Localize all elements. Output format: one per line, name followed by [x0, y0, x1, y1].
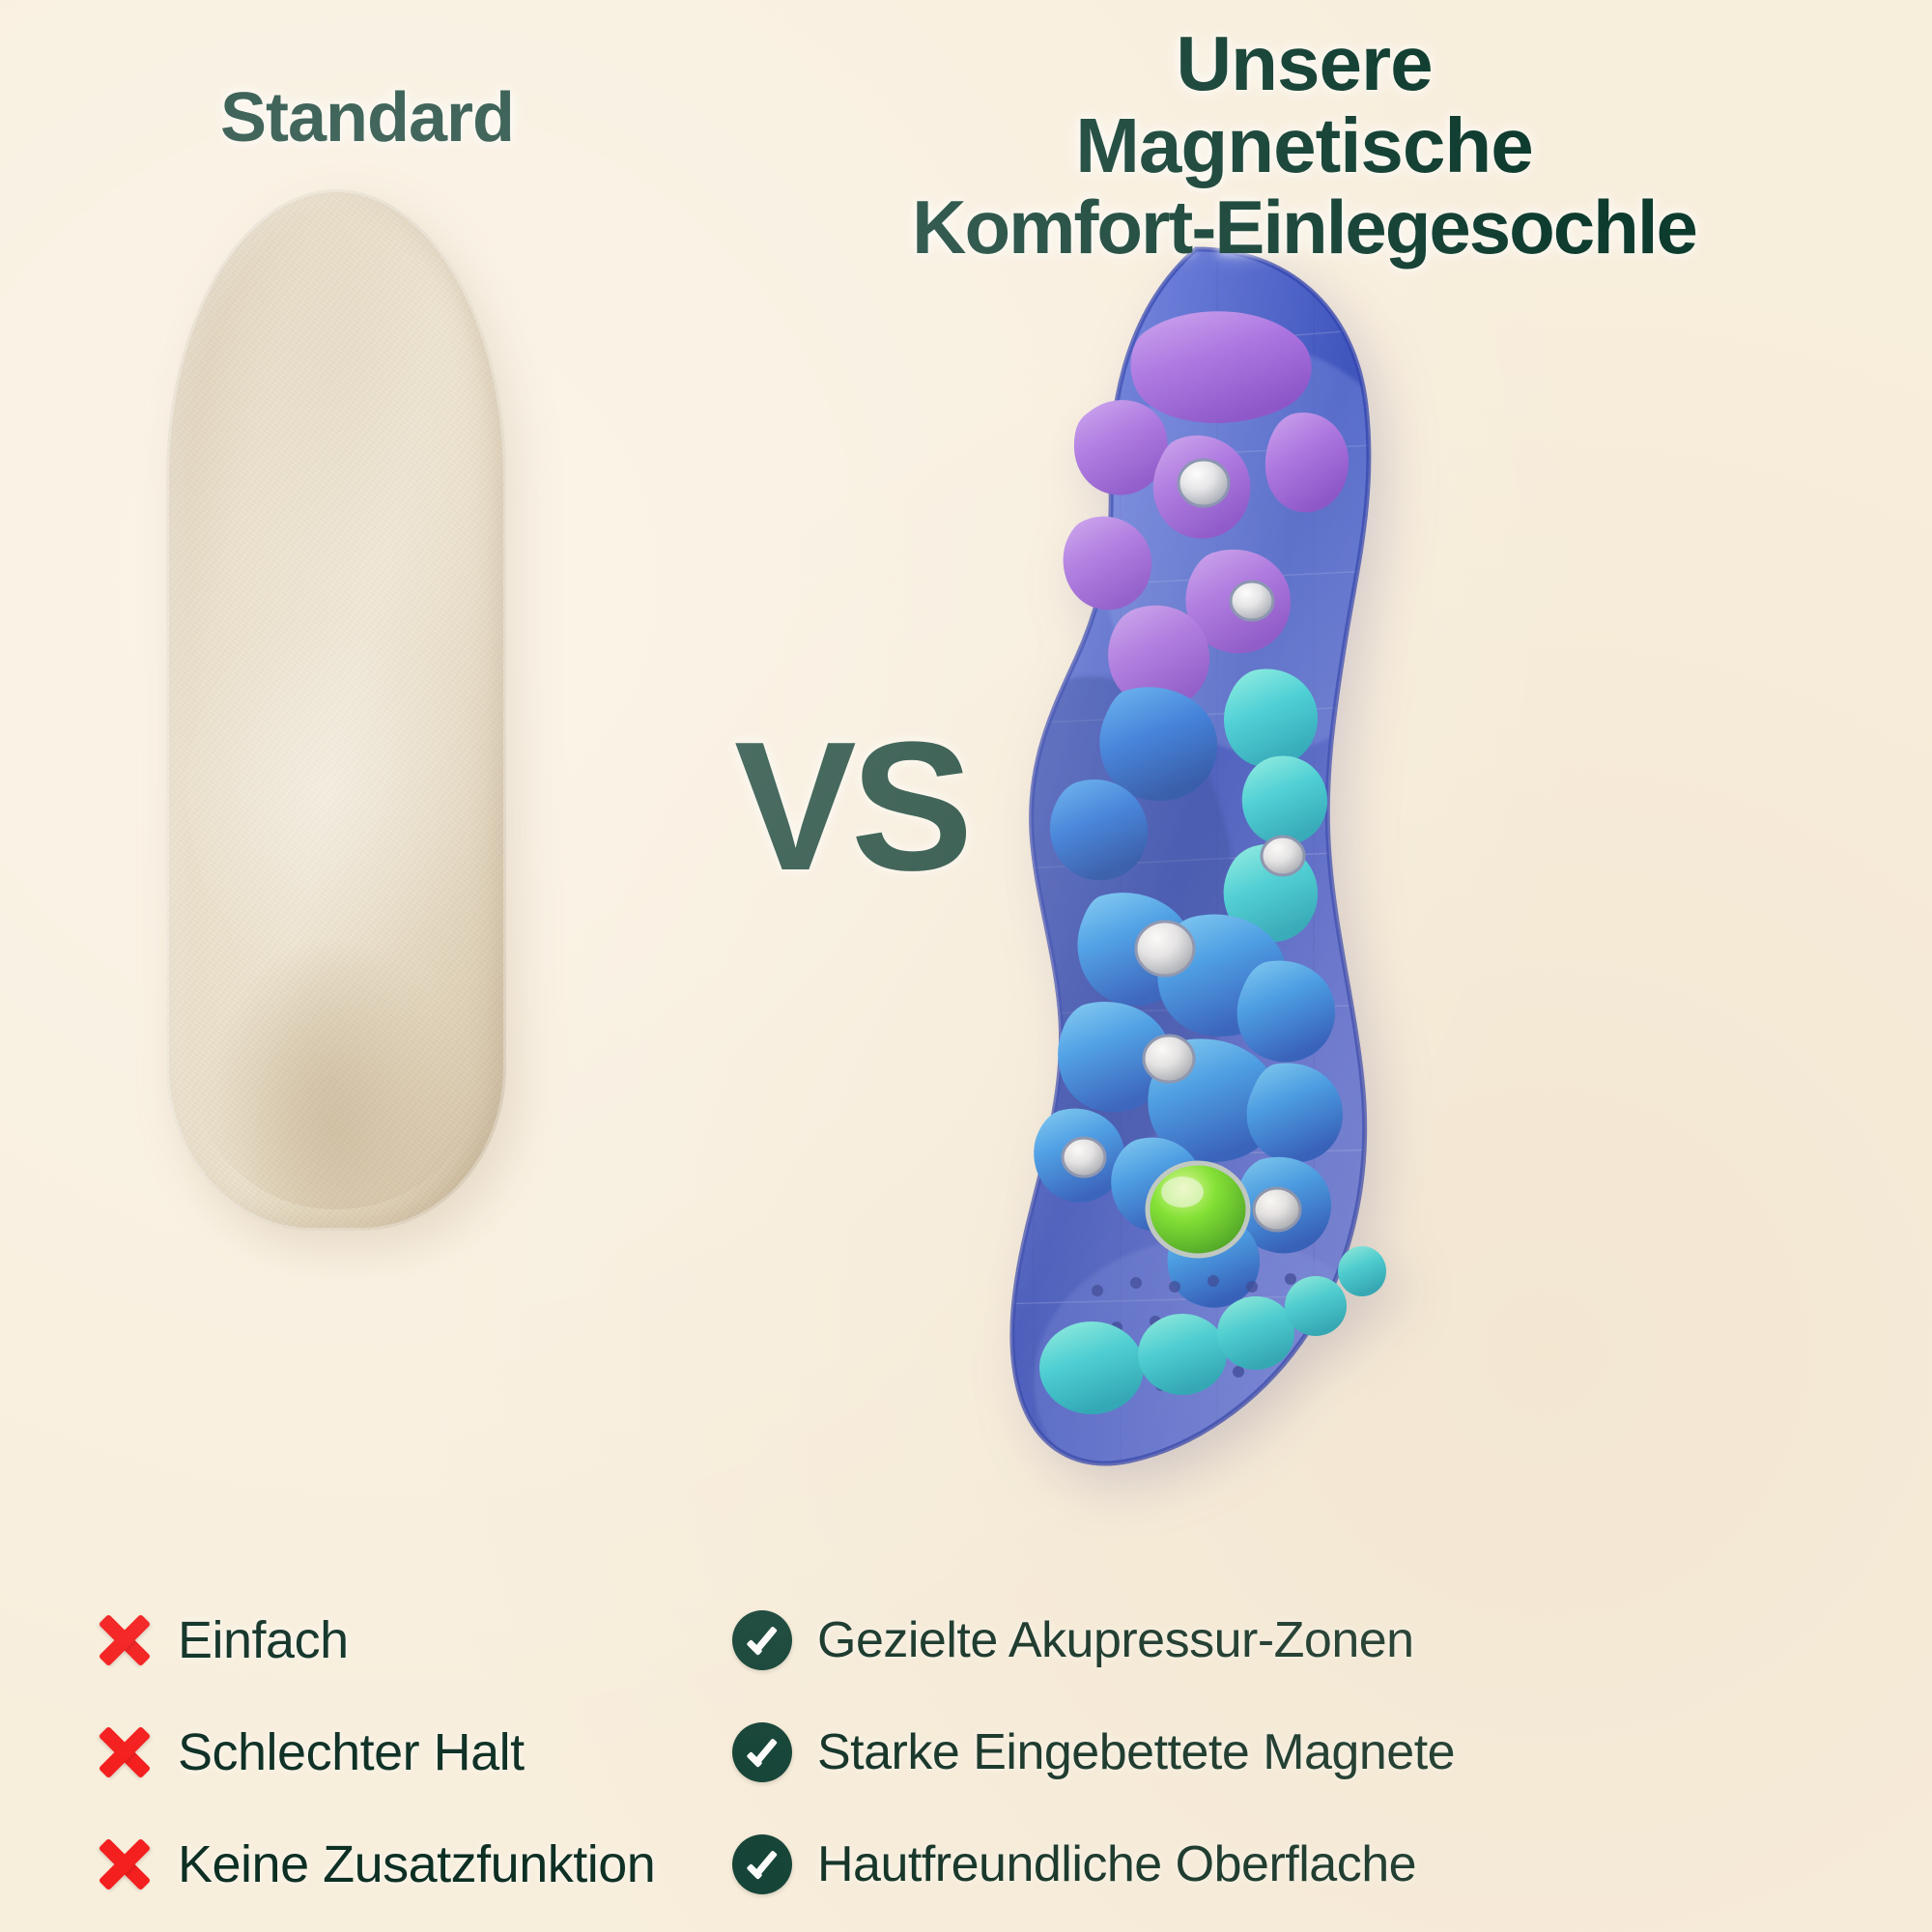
standard-insole-image — [166, 189, 506, 1231]
x-mark-icon — [97, 1724, 153, 1780]
title-line-2: Magnetische — [676, 105, 1932, 187]
page-title-standard: Standard — [0, 83, 734, 153]
standard-insole-heel-cup — [193, 939, 479, 1209]
feature-label: Einfach — [178, 1610, 349, 1670]
check-circle-icon — [732, 1610, 792, 1670]
check-circle-icon — [732, 1834, 792, 1894]
x-mark-icon — [97, 1612, 153, 1668]
list-item: Keine Zusatzfunktion — [97, 1808, 734, 1920]
list-item: Einfach — [97, 1584, 734, 1696]
green-stone — [1148, 1163, 1248, 1256]
list-item: Starke Eingebettete Magnete — [732, 1696, 1930, 1808]
list-item: Hautfreundliche Oberflache — [732, 1808, 1930, 1920]
feature-label: Starke Eingebettete Magnete — [817, 1723, 1455, 1781]
magnetic-insole-image — [976, 241, 1410, 1507]
title-line-1: Unsere — [676, 23, 1932, 105]
feature-label: Gezielte Akupressur-Zonen — [817, 1611, 1414, 1669]
feature-label: Keine Zusatzfunktion — [178, 1834, 655, 1894]
magnetic-feature-list: Gezielte Akupressur-Zonen Starke Eingebe… — [732, 1584, 1930, 1920]
list-item: Schlechter Halt — [97, 1696, 734, 1808]
versus-label: VS — [734, 715, 967, 898]
check-circle-icon — [732, 1722, 792, 1782]
list-item: Gezielte Akupressur-Zonen — [732, 1584, 1930, 1696]
page-title-magnetic: Unsere Magnetische Komfort-Einlegesochle — [676, 23, 1932, 267]
feature-label: Schlechter Halt — [178, 1722, 525, 1782]
x-mark-icon — [97, 1836, 153, 1892]
title-line-3: Komfort-Einlegesochle — [676, 187, 1932, 268]
standard-insole-arch-highlight — [186, 606, 499, 980]
standard-feature-list: Einfach Schlechter Halt Keine Zusatzfunk… — [97, 1584, 734, 1920]
feature-label: Hautfreundliche Oberflache — [817, 1835, 1416, 1893]
